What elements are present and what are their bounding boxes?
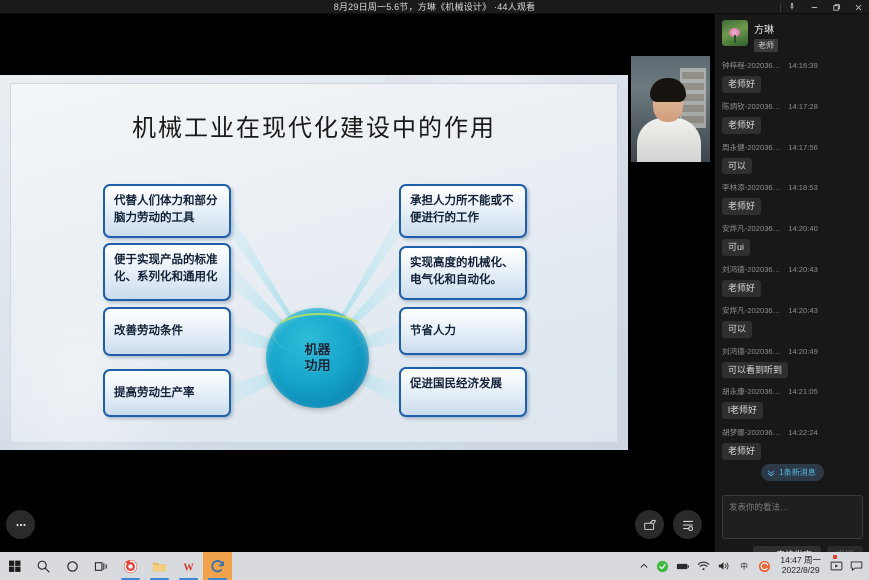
slide-node-left-4: 提高劳动生产率 [103,369,231,417]
start-button[interactable] [0,552,29,580]
message-time: 14:20:43 [788,265,818,274]
new-message-badge[interactable]: 1条新消息 [761,464,823,481]
windows-taskbar: W [0,552,869,580]
presenter-hair [650,78,686,102]
list-item: 钟梓程-202036… 14:16:39 老师好 [722,60,863,93]
message-meta: 安烨凡-202036… 14:20:43 [722,305,863,316]
svg-text:中: 中 [740,561,748,571]
slide-node-left-2: 便于实现产品的标准化、系列化和通用化 [103,243,231,301]
browser-icon [122,558,139,575]
message-list[interactable]: 钟梓程-202036… 14:16:39 老师好 陈炳钦-202036… 14:… [715,58,869,462]
start-icon [8,559,22,573]
new-message-indicator-wrap: 1条新消息 [715,464,869,481]
list-item: 李林添-202036… 14:18:53 老师好 [722,182,863,215]
security-shield-icon[interactable] [656,560,669,573]
message-text: l老师好 [722,402,763,419]
slide-node-right-2: 实现高度的机械化、电气化和自动化。 [399,246,527,300]
list-item: 安烨凡-202036… 14:20:40 可ui [722,223,863,256]
window-controls [780,0,869,14]
meeting-icon [209,558,226,575]
presenter-video-thumbnail[interactable] [631,56,710,162]
presenter-role-badge: 老师 [754,39,778,52]
browser-button[interactable] [116,552,145,580]
avatar[interactable] [722,20,748,46]
message-time: 14:20:43 [788,306,818,315]
message-author: 安烨凡-202036… [722,223,780,234]
window-title: 8月29日周一5.6节，方琳《机械设计》 ·44人观看 [0,0,869,13]
more-options-button[interactable] [6,510,35,539]
meeting-tray-icon[interactable] [758,560,771,573]
message-time: 14:20:49 [788,347,818,356]
message-input[interactable]: 发表你的看法… [722,495,863,539]
message-author: 李林添-202036… [722,182,780,193]
ime-icon[interactable]: 中 [737,560,751,572]
meeting-app-button[interactable] [203,552,232,580]
slide-canvas: 机械工业在现代化建设中的作用 [10,83,618,443]
list-item: 胡永康-202036… 14:21:05 l老师好 [722,386,863,419]
message-meta: 胡梦娜-202036… 14:22:24 [722,427,863,438]
list-item: 刘鸿德-202036… 14:20:43 老师好 [722,264,863,297]
shared-slide: 机械工业在现代化建设中的作用 [0,75,628,450]
message-author: 安烨凡-202036… [722,305,780,316]
battery-icon[interactable] [676,561,690,572]
message-text: 老师好 [722,76,761,93]
task-view-button[interactable] [87,552,116,580]
list-item: 陈炳钦-202036… 14:17:28 老师好 [722,101,863,134]
wps-button[interactable]: W [174,552,203,580]
volume-icon[interactable] [717,560,730,572]
settings-button[interactable] [673,510,702,539]
center-hub: 机器 功用 [266,308,369,408]
message-author: 胡梦娜-202036… [722,427,780,438]
taskbar-clock[interactable]: 14:47 周一 2022/8/29 [778,556,823,576]
message-meta: 周永健-202036… 14:17:56 [722,142,863,153]
message-text: 老师好 [722,117,761,134]
svg-text:W: W [183,562,194,573]
minimize-button[interactable] [803,0,825,14]
share-screen-icon [642,517,658,533]
message-text: 老师好 [722,198,761,215]
center-hub-label: 机器 功用 [304,342,330,375]
show-hidden-icons-button[interactable] [639,561,649,571]
hub-line-2: 功用 [304,358,330,374]
presenter-name: 方琳 [754,21,778,36]
notification-dot [833,555,837,559]
folder-icon [151,558,168,575]
chevron-down-icon [767,469,775,477]
message-time: 14:20:40 [788,224,818,233]
presenter-info: 方琳 老师 [754,20,778,52]
message-text: 可以看到听到 [722,362,788,379]
search-icon [36,559,51,574]
message-meta: 安烨凡-202036… 14:20:40 [722,223,863,234]
message-time: 14:22:24 [788,428,818,437]
settings-sliders-icon [680,517,696,533]
message-meta: 刘鸿德-202036… 14:20:43 [722,264,863,275]
circle-icon [65,559,80,574]
task-view-icon [94,559,109,574]
search-button[interactable] [29,552,58,580]
slide-node-left-3: 改善劳动条件 [103,307,231,356]
message-time: 14:21:05 [788,387,818,396]
file-explorer-button[interactable] [145,552,174,580]
hub-line-1: 机器 [304,342,330,358]
clock-date: 2022/8/29 [780,566,821,576]
list-item: 安烨凡-202036… 14:20:43 可以 [722,305,863,338]
message-text: 老师好 [722,280,761,297]
restore-button[interactable] [825,0,847,14]
cortana-button[interactable] [58,552,87,580]
slide-node-left-1: 代替人们体力和部分脑力劳动的工具 [103,184,231,238]
presentation-stage[interactable]: 机械工业在现代化建设中的作用 [0,14,714,552]
message-text: 可ui [722,239,750,256]
chat-panel: 方琳 老师 钟梓程-202036… 14:16:39 老师好 陈炳钦-20203… [714,14,869,552]
slide-node-right-1: 承担人力所不能或不便进行的工作 [399,184,527,238]
message-author: 刘鸿德-202036… [722,264,780,275]
message-author: 钟梓程-202036… [722,60,780,71]
presenter-header: 方琳 老师 [715,14,869,56]
chevron-up-icon [639,561,649,571]
message-author: 胡永康-202036… [722,386,780,397]
more-horizontal-icon [14,518,28,532]
message-author: 周永健-202036… [722,142,780,153]
message-meta: 胡永康-202036… 14:21:05 [722,386,863,397]
meeting-app-window: 8月29日周一5.6节，方琳《机械设计》 ·44人观看 机械工业在现代化建设中的… [0,0,869,580]
message-time: 14:17:56 [788,143,818,152]
slide-node-right-3: 节省人力 [399,307,527,355]
message-text: 可以 [722,158,752,175]
message-meta: 陈炳钦-202036… 14:17:28 [722,101,863,112]
message-text: 可以 [722,321,752,338]
message-author: 陈炳钦-202036… [722,101,780,112]
action-center-icon[interactable] [850,560,863,572]
message-time: 14:18:53 [788,183,818,192]
wifi-icon[interactable] [697,560,710,572]
wps-icon: W [180,558,197,575]
message-meta: 钟梓程-202036… 14:16:39 [722,60,863,71]
share-screen-button[interactable] [635,510,664,539]
new-message-label: 1条新消息 [779,467,815,478]
message-text: 老师好 [722,443,761,460]
message-time: 14:17:28 [788,102,818,111]
presenter-body [637,118,701,162]
slide-node-right-4: 促进国民经济发展 [399,367,527,417]
list-item: 周永健-202036… 14:17:56 可以 [722,142,863,175]
message-meta: 刘鸿德-202036… 14:20:49 [722,346,863,357]
list-item: 胡梦娜-202036… 14:22:24 老师好 [722,427,863,460]
pin-icon[interactable] [781,0,803,14]
message-author: 刘鸿德-202036… [722,346,780,357]
projection-icon[interactable] [830,560,843,572]
taskbar-items: W [0,552,232,580]
message-time: 14:16:39 [788,61,818,70]
title-bar: 8月29日周一5.6节，方琳《机械设计》 ·44人观看 [0,0,869,14]
list-item: 刘鸿德-202036… 14:20:49 可以看到听到 [722,346,863,379]
message-meta: 李林添-202036… 14:18:53 [722,182,863,193]
stem-decoration [734,35,736,43]
close-button[interactable] [847,0,869,14]
